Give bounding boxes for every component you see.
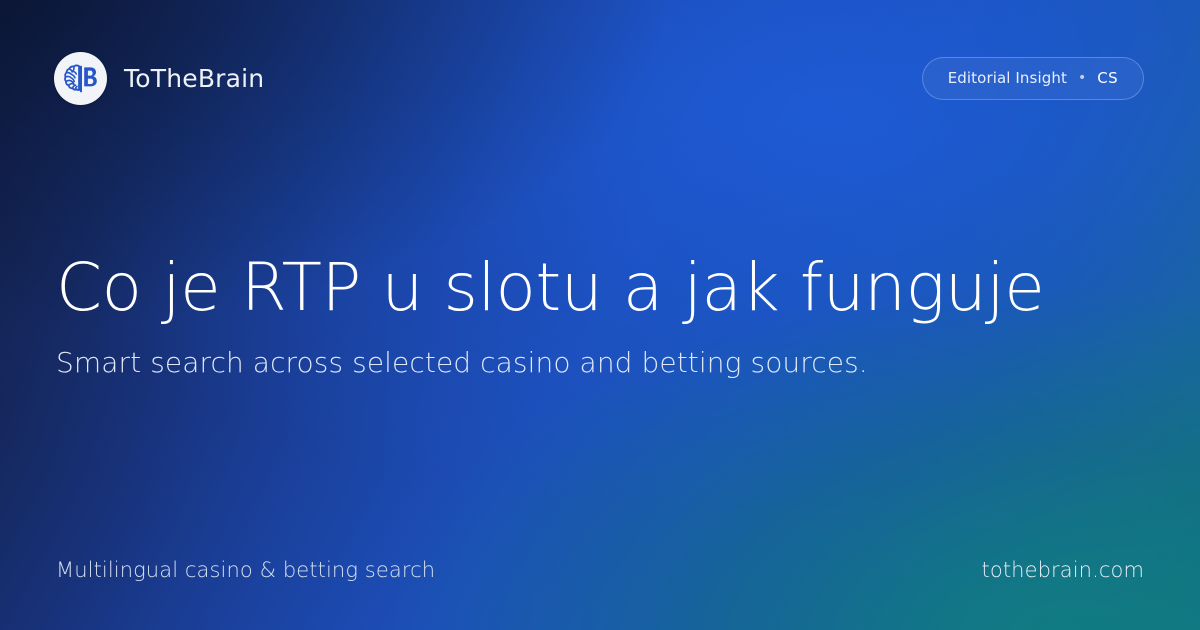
status-badge-label: Editorial Insight (948, 69, 1067, 87)
footer-tagline: Multilingual casino & betting search (56, 558, 435, 582)
brain-b-logo-icon (54, 52, 107, 105)
page-title: Co je RTP u slotu a jak funguje (56, 252, 1144, 323)
footer-domain[interactable]: tothebrain.com (982, 558, 1144, 582)
page-subtitle: Smart search across selected casino and … (56, 345, 1144, 380)
card-footer: Multilingual casino & betting search tot… (56, 558, 1144, 582)
language-code: CS (1097, 69, 1118, 87)
card-main: Co je RTP u slotu a jak funguje Smart se… (56, 252, 1144, 380)
bullet-separator-icon: • (1078, 71, 1086, 85)
brand-name: ToTheBrain (124, 64, 264, 93)
share-card: ToTheBrain Editorial Insight • CS Co je … (0, 0, 1200, 630)
status-badge[interactable]: Editorial Insight • CS (922, 57, 1144, 100)
brand-lockup[interactable]: ToTheBrain (54, 52, 264, 105)
card-header: ToTheBrain Editorial Insight • CS (54, 52, 1144, 105)
